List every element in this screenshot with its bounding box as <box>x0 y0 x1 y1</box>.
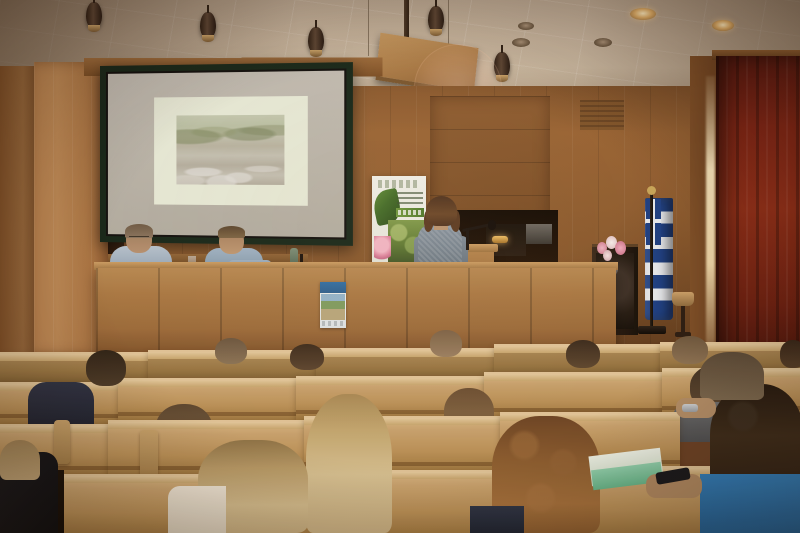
audience-head <box>700 352 764 400</box>
stage-front-panel <box>96 268 616 352</box>
recessed-light-icon <box>594 38 612 47</box>
audience-head <box>430 330 462 357</box>
track-spotlight-icon <box>200 12 216 38</box>
screen-surface <box>108 71 344 238</box>
recessed-light-icon <box>630 8 656 20</box>
pew-armrest <box>140 430 158 478</box>
flag-cross-horizontal <box>646 219 661 223</box>
lamp-stem <box>681 306 685 332</box>
audience-blue-polo <box>700 474 800 533</box>
audience-head <box>86 350 126 386</box>
audience-head <box>0 440 40 480</box>
audience-blonde-head <box>306 394 392 533</box>
light-gap <box>706 76 715 344</box>
flag-finial <box>647 186 656 195</box>
panelist-right-hair <box>218 226 245 238</box>
presenter-hair <box>426 196 457 226</box>
flower-white <box>603 250 612 261</box>
flag-base <box>638 326 666 334</box>
track-spotlight-icon <box>308 27 324 53</box>
banner-flower-graphic <box>374 236 391 262</box>
poster-header <box>320 282 346 293</box>
slide <box>154 96 308 206</box>
poster-footer-logos <box>322 321 344 326</box>
audience-head <box>672 336 708 364</box>
banner-theme-bar <box>396 208 424 217</box>
banner-title-text <box>397 192 423 206</box>
audience-torso <box>470 506 524 533</box>
microphone-post <box>466 228 469 250</box>
pew-armrest <box>54 420 70 464</box>
track-spotlight-icon <box>428 6 444 32</box>
poster-photo <box>321 294 345 320</box>
flower-pink <box>615 241 626 255</box>
slide-photo-trees <box>176 115 284 146</box>
slide-photo-landscape <box>176 115 284 185</box>
flag-pole <box>650 192 653 330</box>
auditorium-photograph <box>0 0 800 533</box>
recessed-light-icon <box>518 22 534 30</box>
stage-panel-seams <box>96 268 616 352</box>
recessed-light-icon <box>512 38 530 47</box>
projection-screen <box>100 62 353 246</box>
recessed-light-icon <box>712 20 734 31</box>
banner-logo-icon <box>378 180 420 188</box>
amber-indicator-light <box>492 236 508 243</box>
wall-vent-grille <box>580 100 624 130</box>
slide-photo-rocks <box>176 153 284 185</box>
audience-head <box>780 340 800 368</box>
curtain <box>716 56 800 374</box>
wristwatch <box>682 404 698 412</box>
wall-poster <box>320 282 346 328</box>
audience-head <box>215 338 247 364</box>
audience-head <box>566 340 600 368</box>
audience-shoulder <box>168 486 226 533</box>
suspension-wire <box>368 0 369 56</box>
recess-highlight <box>524 224 552 244</box>
audience-head <box>290 344 324 370</box>
microphone-icon <box>488 220 496 230</box>
lamp-shade <box>672 292 694 306</box>
track-spotlight-icon <box>86 2 102 28</box>
table-lamp <box>672 292 694 338</box>
glasses-icon <box>129 236 149 241</box>
